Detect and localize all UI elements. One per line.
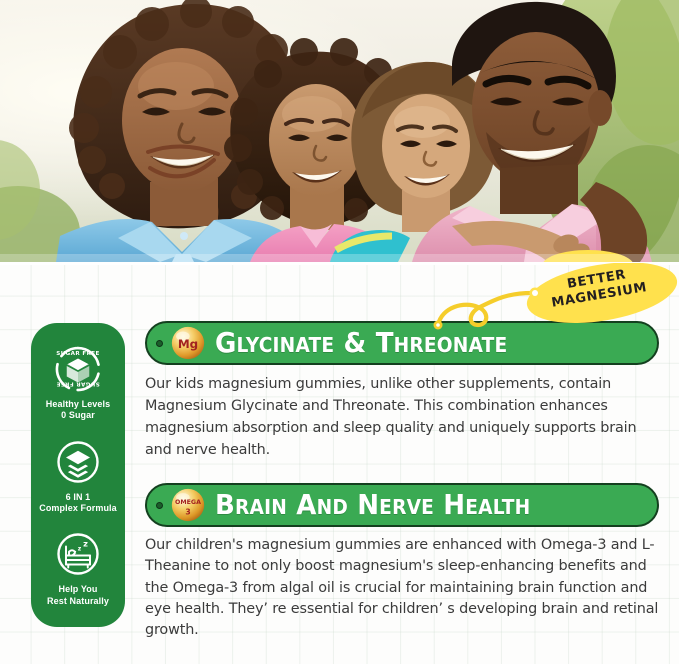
svg-text:z: z [83, 539, 88, 549]
feature-item-sugar-free: SUGAR FREE SUGAR FREE Healthy Levels 0 S… [46, 345, 110, 422]
section-2-title: Brain And Nerve Health [215, 491, 530, 519]
svg-text:z: z [78, 546, 82, 553]
section-brain-nerve-health: OMEGA 3 Brain And Nerve Health Our child… [145, 483, 659, 642]
sugar-free-cube-icon: SUGAR FREE SUGAR FREE [54, 345, 102, 393]
omega-3-pill-icon: OMEGA 3 [171, 488, 205, 522]
svg-text:z: z [74, 551, 77, 556]
feature-label-rest-naturally: Help You Rest Naturally [47, 584, 109, 607]
features-sidebar-card: SUGAR FREE SUGAR FREE Healthy Levels 0 S… [31, 323, 125, 627]
banner-eyelet-hole-icon [156, 502, 163, 509]
svg-text:SUGAR FREE: SUGAR FREE [56, 381, 99, 387]
section-2-body: Our children's magnesium gummies are enh… [145, 535, 659, 642]
layers-stack-icon [54, 438, 102, 486]
mg-icon-label: Mg [178, 337, 198, 351]
bed-sleep-zzz-icon: z z z [54, 530, 102, 578]
section-2-banner: OMEGA 3 Brain And Nerve Health [145, 483, 659, 527]
feature-item-rest-naturally: z z z Help You Rest Naturally [47, 530, 109, 607]
feature-item-complex-formula: 6 IN 1 Complex Formula [39, 438, 117, 515]
hero-family-photo [0, 0, 679, 262]
svg-text:SUGAR FREE: SUGAR FREE [56, 351, 99, 357]
section-glycinate-threonate: Mg Glycinate & Threonate Our kids magnes… [145, 321, 659, 462]
feature-label-complex-formula: 6 IN 1 Complex Formula [39, 492, 117, 515]
banner-eyelet-hole-icon [156, 340, 163, 347]
section-1-body: Our kids magnesium gummies, unlike other… [145, 374, 659, 462]
magnesium-mg-pill-icon: Mg [171, 326, 205, 360]
product-infographic-page: SUGAR FREE SUGAR FREE Healthy Levels 0 S… [0, 0, 679, 664]
section-1-title: Glycinate & Threonate [215, 329, 507, 357]
feature-label-sugar-free: Healthy Levels 0 Sugar [46, 399, 110, 422]
omega-icon-label-bottom: 3 [185, 507, 190, 516]
omega-icon-label-top: OMEGA [175, 499, 201, 506]
section-1-banner: Mg Glycinate & Threonate [145, 321, 659, 365]
hero-photo-illustration [0, 0, 679, 262]
